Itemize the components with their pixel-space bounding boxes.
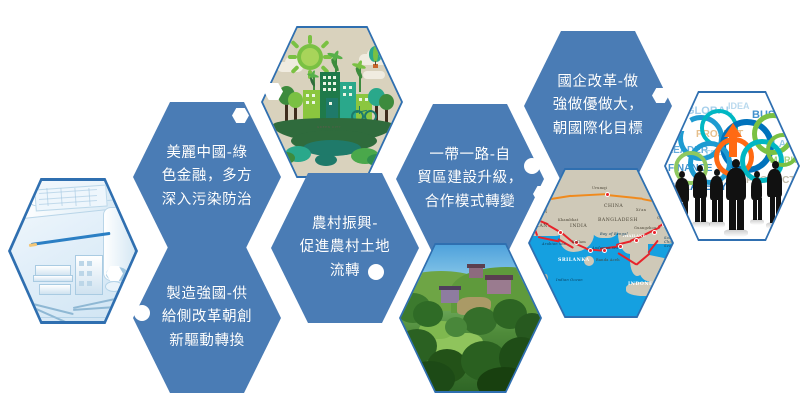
map-label-banda-aceh: Banda Aceh [596, 258, 620, 262]
silk-road-map-image: CHINA IRAN OMAN INDIA BANGLADESH SRILANK… [530, 170, 672, 316]
map-label-urumqi: Urumqi [592, 186, 607, 190]
green-city-image: GREEN CITY [263, 28, 401, 176]
hexagon-beautiful-china-label: 美麗中國-綠 色金融，多方 深入污染防治 [156, 142, 259, 212]
page-title: 中國經濟政策六角形主題圖 [0, 0, 1, 1]
hexagon-silk-road-map-image[interactable]: CHINA IRAN OMAN INDIA BANGLADESH SRILANK… [528, 168, 674, 318]
hexagon-business-people-image[interactable]: STRATEGY FINANCE LEADER GLOBAL TEAM PROJ… [664, 91, 800, 241]
map-label-oman: OMAN [530, 224, 548, 229]
map-label-china: CHINA [604, 204, 623, 209]
hexagon-soe-reform[interactable]: 國企改革-做 強做優做大， 朝國際化目標 [524, 31, 672, 181]
map-label-quanzhou: Quanzhou [657, 216, 672, 220]
hexagon-rural-landscape-image[interactable] [399, 243, 542, 393]
connector-node-rural-revitalization [368, 264, 384, 280]
hexagon-manufacturing-power-label: 製造強國-供 給側改革朝創 新驅動轉換 [156, 283, 259, 353]
map-label-bay-of-bengal: Bay of Bengal [600, 232, 628, 236]
map-label-xian: Xi'an [636, 208, 646, 212]
map-label-bangladesh: BANGLADESH [598, 218, 638, 223]
hexagon-belt-and-road[interactable]: 一帶一路-自 貿區建設升級， 合作模式轉變 [396, 104, 544, 254]
rural-landscape-image [401, 245, 540, 391]
business-people-image: STRATEGY FINANCE LEADER GLOBAL TEAM PROJ… [666, 93, 798, 239]
map-label-indian-ocean: Indian Ocean [556, 278, 583, 282]
map-label-kollam: Kollam [572, 240, 586, 244]
hexagon-soe-reform-label: 國企改革-做 強做優做大， 朝國際化目標 [547, 71, 650, 141]
map-label-khambhat: Khambhat [558, 218, 578, 222]
infographic-canvas: 美麗中國-綠 色金融，多方 深入污染防治 製造強國-供 給側改革朝創 新驅動轉換 [0, 0, 800, 406]
blueprint-image [11, 181, 135, 321]
map-label-srilanka: SRILANKA [558, 258, 590, 263]
green-city-caption: GREEN CITY [317, 125, 341, 129]
hexagon-rural-revitalization[interactable]: 農村振興- 促進農村土地 流轉 [271, 173, 419, 323]
map-label-indonesia: INDONESIA [628, 282, 664, 287]
map-label-india: INDIA [570, 224, 587, 229]
connector-node-manufacturing-power [134, 305, 150, 321]
keyword-idea: IDEA [728, 101, 750, 111]
hexagon-blueprint-image[interactable] [8, 178, 138, 324]
hexagon-belt-and-road-label: 一帶一路-自 貿區建設升級， 合作模式轉變 [411, 144, 529, 214]
map-label-guangzhou: Guangzhou [634, 226, 656, 230]
hexagon-green-city-image[interactable]: GREEN CITY [261, 26, 403, 178]
hexagon-manufacturing-power[interactable]: 製造強國-供 給側改革朝創 新驅動轉換 [133, 243, 281, 393]
map-label-arabian-sea: Arabian sea [542, 242, 566, 246]
map-label-andaman-sea: Andaman sea [592, 246, 619, 250]
connector-node-belt-and-road [524, 158, 540, 174]
hexagon-beautiful-china[interactable]: 美麗中國-綠 色金融，多方 深入污染防治 [133, 102, 281, 252]
map-label-south-china-sea: South China Sea [664, 236, 672, 248]
map-label-iran: IRAN [533, 210, 548, 215]
